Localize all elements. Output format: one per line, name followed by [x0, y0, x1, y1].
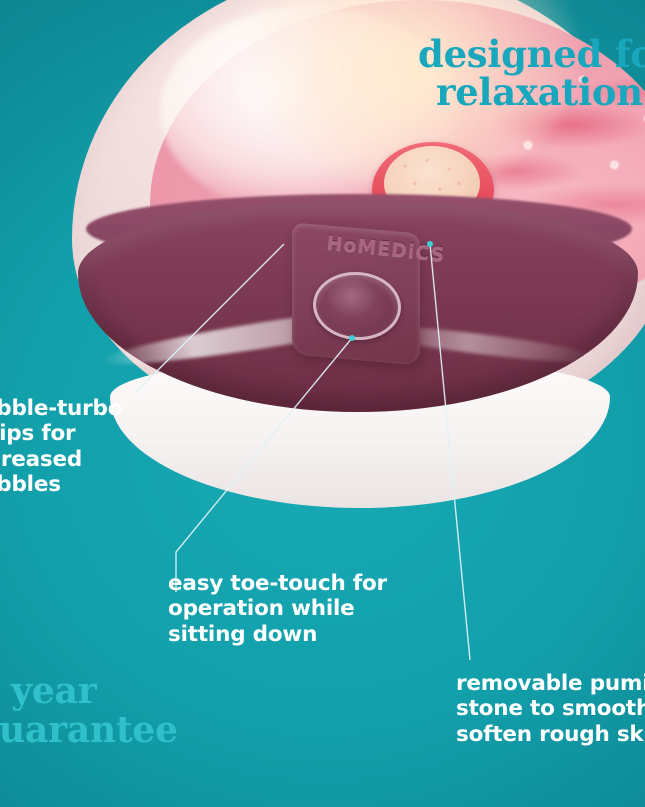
callout-bubble-turbo: bubble-turbo strips for increased bubble… — [0, 396, 122, 497]
callout-bubble-line-2: strips for — [0, 421, 122, 446]
callout-toe-line-3: sitting down — [168, 622, 387, 647]
headline: designed for relaxation — [418, 36, 645, 111]
product-marketing-image: HoMEDiCS designed for relaxation bubble-… — [0, 0, 645, 807]
headline-line-2: relaxation — [436, 74, 645, 112]
callout-bubble-line-1: bubble-turbo — [0, 396, 122, 421]
callout-toe-touch: easy toe-touch for operation while sitti… — [168, 571, 387, 647]
callout-pumice-line-1: removable pumice — [456, 671, 645, 696]
guarantee-line-1: 2 year — [0, 672, 178, 711]
callout-bubble-line-4: bubbles — [0, 472, 122, 497]
guarantee-line-2: guarantee — [0, 711, 178, 750]
callout-pumice-line-3: soften rough skin — [456, 722, 645, 747]
callout-pumice-line-2: stone to smooth & — [456, 696, 645, 721]
guarantee-badge: 2 year guarantee — [0, 672, 178, 750]
callout-toe-line-1: easy toe-touch for — [168, 571, 387, 596]
callout-toe-line-2: operation while — [168, 596, 387, 621]
callout-bubble-line-3: increased — [0, 447, 122, 472]
callout-pumice-stone: removable pumice stone to smooth & softe… — [456, 671, 645, 747]
